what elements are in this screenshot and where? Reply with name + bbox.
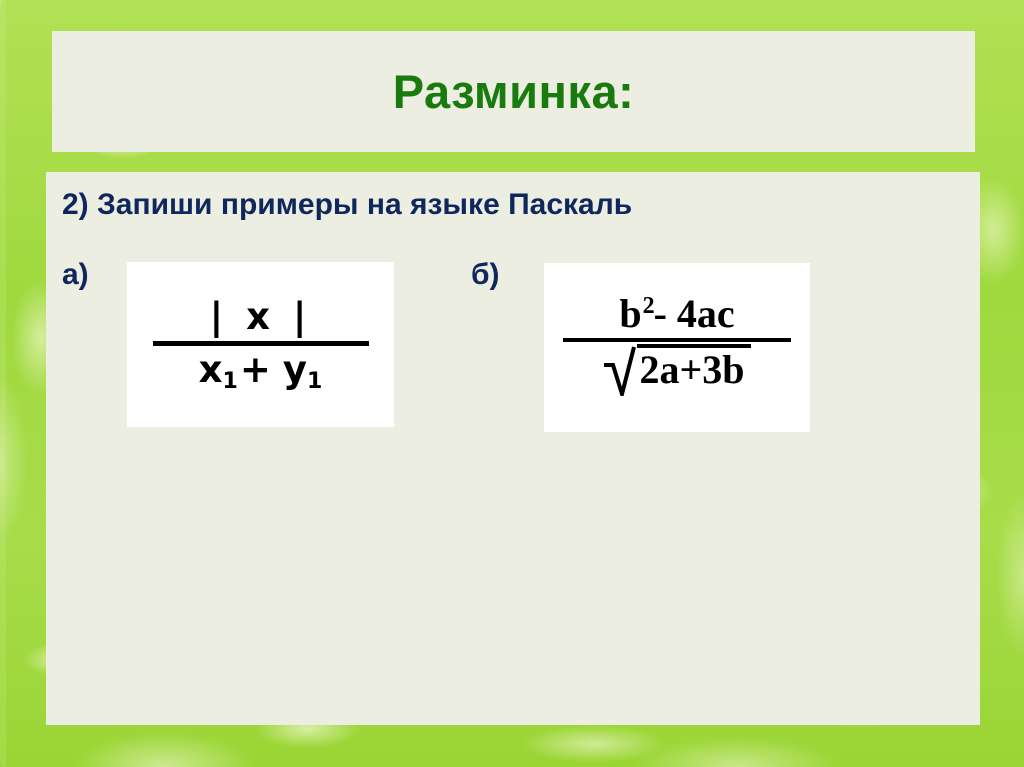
fraction-b-num-rest: - 4ac [654,294,735,334]
content-panel: 2) Запиши примеры на языке Паскаль а) | … [46,172,980,725]
fraction-b: b2- 4ac 2a+3b [563,294,791,396]
item-label-b: б) [471,258,500,292]
fraction-b-denominator: 2a+3b [603,342,750,396]
fraction-b-num-base: b [619,294,641,334]
formula-image-a: | x | x1+y1 [127,262,394,427]
fraction-a-den-op: + [238,351,273,388]
fraction-a-den-y-sub: 1 [307,371,322,393]
fraction-a-den-x-sub: 1 [223,371,238,393]
title-panel: Разминка: [52,31,975,152]
fraction-b-num-exponent: 2 [643,294,655,318]
task-instruction: 2) Запиши примеры на языке Паскаль [62,188,632,222]
formula-image-b: b2- 4ac 2a+3b [544,263,810,432]
page-title: Разминка: [393,68,635,115]
radical-sign-icon [603,344,637,396]
fraction-a-numerator: | x | [194,298,328,341]
fraction-a: | x | x1+y1 [153,298,369,388]
fraction-a-den-y: y [283,351,307,388]
fraction-a-den-x: x [199,351,223,388]
fraction-a-denominator: x1+y1 [199,346,323,388]
radicand-text: 2a+3b [637,344,750,396]
item-label-a: а) [62,258,89,292]
slide: Разминка: 2) Запиши примеры на языке Пас… [0,0,1024,767]
fraction-b-numerator: b2- 4ac [609,294,744,338]
square-root-group: 2a+3b [603,344,750,396]
